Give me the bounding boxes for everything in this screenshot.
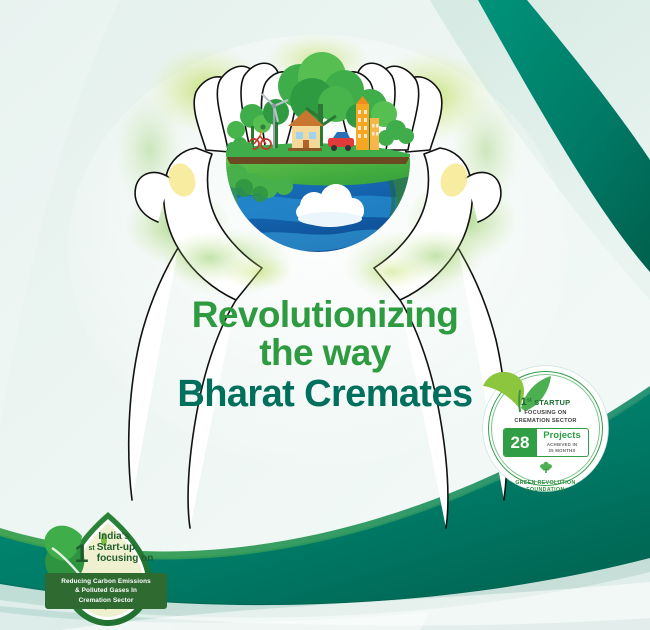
india-first-startup-badge: India's 1 st Start-up focusing on Reduci… xyxy=(28,506,160,630)
badge-left-label-line-1: Start-up xyxy=(97,543,154,554)
badge-left-text: India's 1 st Start-up focusing on xyxy=(74,532,154,566)
projects-count-box: 28 Projects ACHIEVED IN 25 MONTHS xyxy=(503,428,589,457)
foundation-line-1: GREEN REVOLUTION xyxy=(493,480,598,487)
projects-achieved-line-2: 25 MONTHS xyxy=(549,448,576,454)
badge-leaf-shape xyxy=(28,506,160,630)
badge-subtitle-line-1: FOCUSING ON xyxy=(493,410,598,418)
badge-left-band-line-2: & Polluted Gases In xyxy=(48,586,164,595)
headline-line-1: Revolutionizing xyxy=(0,296,650,334)
foundation-name: GREEN REVOLUTION FOUNDATION xyxy=(493,480,598,494)
badge-left-band-line-1: Reducing Carbon Emissions xyxy=(48,577,164,586)
startup-achievement-badge: 1st STARTUP FOCUSING ON CREMATION SECTOR… xyxy=(483,366,608,491)
projects-achieved-line-1: ACHIEVED IN xyxy=(547,442,578,448)
badge-left-rank-suffix: st xyxy=(89,545,95,552)
badge-left-rank-number: 1 xyxy=(75,543,89,566)
projects-count-number: 28 xyxy=(504,429,537,456)
foundation-logo xyxy=(493,461,598,479)
badge-rank-suffix: st xyxy=(527,398,532,404)
badge-left-band: Reducing Carbon Emissions & Polluted Gas… xyxy=(46,574,166,608)
poster-canvas: Revolutionizing the way Bharat Cremates … xyxy=(0,0,650,630)
tree-logo-icon xyxy=(538,461,554,474)
badge-rank-label: STARTUP xyxy=(534,398,570,407)
badge-subtitle: FOCUSING ON CREMATION SECTOR xyxy=(493,410,598,425)
badge-left-label-line-2: focusing on xyxy=(97,554,154,565)
badge-rank-line: 1st STARTUP xyxy=(493,397,598,408)
badge-left-label: Start-up focusing on xyxy=(97,543,154,564)
projects-count-detail: Projects ACHIEVED IN 25 MONTHS xyxy=(537,429,588,456)
badge-left-band-line-3: Cremation Sector xyxy=(48,596,164,605)
foundation-line-2: FOUNDATION xyxy=(493,487,598,494)
badge-left-rank-row: 1 st Start-up focusing on xyxy=(74,543,154,566)
projects-count-label: Projects xyxy=(543,431,581,441)
badge-subtitle-line-2: CREMATION SECTOR xyxy=(493,418,598,426)
badge-content: 1st STARTUP FOCUSING ON CREMATION SECTOR… xyxy=(493,382,598,483)
